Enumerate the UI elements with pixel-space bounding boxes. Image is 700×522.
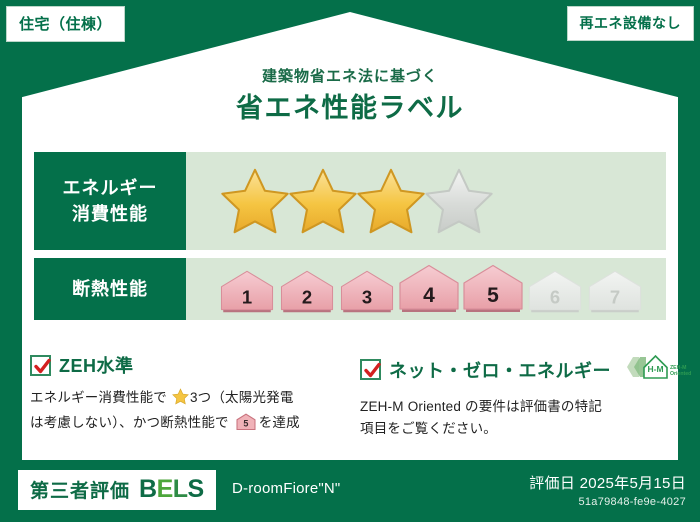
insulation-house-filled-icon: 2 bbox=[278, 270, 336, 314]
ratings-section: エネルギー 消費性能 断熱性能 1234567 bbox=[34, 152, 666, 328]
zeh-text-star-clause: 3つ（太陽光発電 bbox=[190, 390, 294, 405]
energy-performance-row: エネルギー 消費性能 bbox=[34, 152, 666, 250]
star-filled-icon bbox=[286, 166, 360, 236]
zeh-text-part2: は考慮しない）、かつ断熱性能で bbox=[30, 415, 229, 430]
inline-star-icon bbox=[168, 393, 189, 408]
zeh-m-oriented-logo-icon: H-M ZEH-M Oriented bbox=[623, 352, 691, 387]
energy-performance-label: エネルギー 消費性能 bbox=[34, 152, 186, 250]
zeh-text-part1: エネルギー消費性能で bbox=[30, 390, 167, 405]
svg-text:Oriented: Oriented bbox=[670, 371, 691, 377]
inline-house-badge-icon: 5 bbox=[231, 419, 257, 434]
insulation-performance-label: 断熱性能 bbox=[34, 258, 186, 320]
insulation-level-number: 5 bbox=[487, 284, 499, 307]
insulation-level-number: 3 bbox=[362, 286, 372, 307]
star-filled-icon bbox=[218, 166, 292, 236]
third-party-evaluation-label: 第三者評価 bbox=[30, 476, 130, 503]
star-empty-icon bbox=[422, 166, 496, 236]
title-subtitle: 建築物省エネ法に基づく bbox=[0, 65, 700, 86]
zeh-criteria-description: エネルギー消費性能で 3つ（太陽光発電 は考慮しない）、かつ断熱性能で 5 を達… bbox=[30, 387, 334, 438]
renewable-equipment-tag: 再エネ設備なし bbox=[567, 6, 695, 41]
net-zero-text-line2: 項目をご覧ください。 bbox=[360, 421, 497, 436]
bels-letter-l: L bbox=[173, 475, 188, 503]
svg-text:H-M: H-M bbox=[647, 364, 663, 374]
energy-label-poster: 住宅（住棟） 再エネ設備なし 建築物省エネ法に基づく 省エネ性能ラベル ハウスデ… bbox=[0, 0, 700, 522]
energy-label-line2: 消費性能 bbox=[72, 201, 148, 227]
bels-letter-e: E bbox=[157, 475, 173, 503]
insulation-level-number: 7 bbox=[610, 286, 620, 307]
energy-stars-container bbox=[186, 152, 666, 250]
insulation-level-number: 1 bbox=[242, 286, 252, 307]
net-zero-text-line1: ZEH-M Oriented の要件は評価書の特記 bbox=[360, 399, 602, 414]
svg-text:5: 5 bbox=[243, 418, 248, 428]
insulation-house-filled-icon: 3 bbox=[338, 270, 396, 314]
net-zero-criteria-description: ZEH-M Oriented の要件は評価書の特記 項目をご覧ください。 bbox=[360, 396, 670, 440]
net-zero-criteria-header: ネット・ゼロ・エネルギー H-M ZEH-M Oriented bbox=[360, 352, 670, 387]
checkbox-checked-icon bbox=[360, 359, 381, 380]
building-type-tag: 住宅（住棟） bbox=[6, 6, 125, 42]
checkbox-checked-icon bbox=[30, 355, 51, 376]
criteria-section: ZEH水準 エネルギー消費性能で 3つ（太陽光発電 は考慮しない）、かつ断熱性能… bbox=[30, 352, 670, 440]
insulation-level-scale: 1234567 bbox=[218, 264, 644, 314]
evaluation-info: 評価日 2025年5月15日 51a79848-fe9e-4027 bbox=[529, 472, 686, 508]
bels-certification-badge: 第三者評価 BELS bbox=[18, 470, 216, 510]
insulation-level-number: 6 bbox=[550, 286, 560, 307]
footer-bar: 第三者評価 BELS D-roomFiore"N" 評価日 2025年5月15日… bbox=[0, 462, 700, 522]
zeh-criteria-title: ZEH水準 bbox=[59, 352, 134, 378]
insulation-house-empty-icon: 6 bbox=[526, 270, 584, 314]
net-zero-criteria-column: ネット・ゼロ・エネルギー H-M ZEH-M Oriented ZEH-M Or… bbox=[360, 352, 670, 440]
insulation-house-filled-icon: 1 bbox=[218, 270, 276, 314]
star-rating bbox=[218, 166, 490, 236]
insulation-house-empty-icon: 7 bbox=[586, 270, 644, 314]
bels-letter-s: S bbox=[188, 475, 204, 503]
insulation-level-number: 4 bbox=[423, 284, 435, 307]
zeh-text-part3: を達成 bbox=[259, 415, 300, 430]
star-filled-icon bbox=[354, 166, 428, 236]
insulation-label-text: 断熱性能 bbox=[72, 276, 148, 302]
building-name: D-roomFiore"N" bbox=[232, 480, 340, 497]
evaluation-date: 評価日 2025年5月15日 bbox=[529, 472, 686, 493]
evaluation-id: 51a79848-fe9e-4027 bbox=[529, 496, 686, 508]
insulation-scale-container: 1234567 bbox=[186, 258, 666, 320]
net-zero-criteria-title: ネット・ゼロ・エネルギー bbox=[389, 357, 611, 383]
bels-letter-b: B bbox=[139, 475, 157, 503]
page-title: 省エネ性能ラベル bbox=[0, 86, 700, 125]
insulation-house-filled-icon: 5 bbox=[462, 264, 524, 314]
bels-logo: BELS bbox=[139, 475, 204, 504]
zeh-criteria-header: ZEH水準 bbox=[30, 352, 334, 378]
insulation-level-number: 2 bbox=[302, 286, 312, 307]
insulation-house-filled-icon: 4 bbox=[398, 264, 460, 314]
energy-label-line1: エネルギー bbox=[63, 175, 158, 201]
insulation-performance-row: 断熱性能 1234567 bbox=[34, 258, 666, 320]
zeh-criteria-column: ZEH水準 エネルギー消費性能で 3つ（太陽光発電 は考慮しない）、かつ断熱性能… bbox=[30, 352, 334, 440]
